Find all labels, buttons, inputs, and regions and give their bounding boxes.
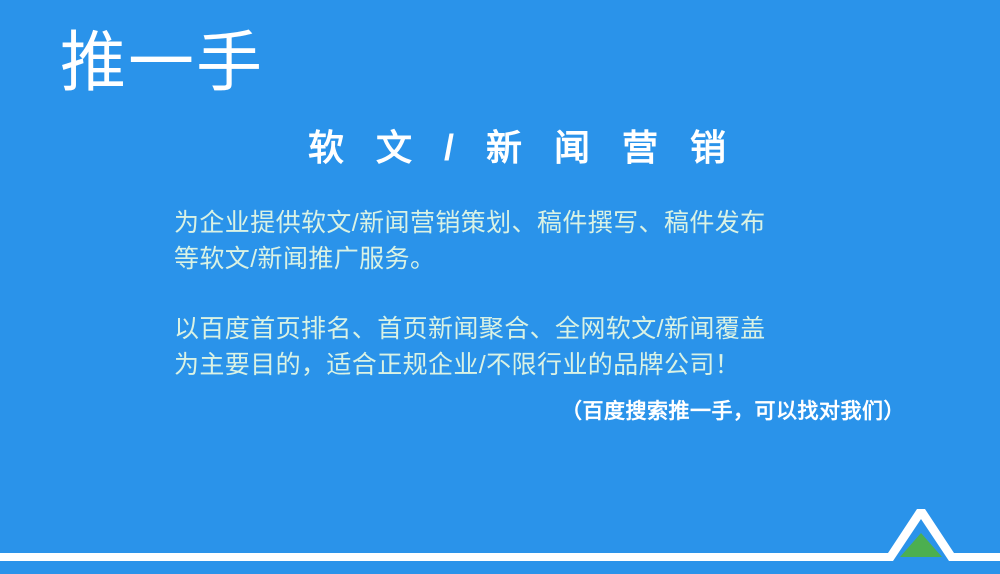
- banner-subtitle: 软 文 / 新 闻 营 销: [308, 124, 737, 173]
- paragraph-objectives: 以百度首页排名、首页新闻聚合、全网软文/新闻覆盖 为主要目的，适合正规企业/不限…: [174, 311, 874, 383]
- triangle-accent-icon: [900, 533, 942, 557]
- paragraph-services-line-1: 为企业提供软文/新闻营销策划、稿件撰写、稿件发布: [174, 205, 874, 241]
- search-hint-footnote: （百度搜索推一手，可以找对我们）: [561, 398, 905, 426]
- promo-banner: 推一手 软 文 / 新 闻 营 销 为企业提供软文/新闻营销策划、稿件撰写、稿件…: [0, 0, 1000, 574]
- brand-logo: 推一手: [60, 24, 264, 102]
- body-copy: 为企业提供软文/新闻营销策划、稿件撰写、稿件发布 等软文/新闻推广服务。 以百度…: [174, 205, 874, 383]
- paragraph-objectives-line-1: 以百度首页排名、首页新闻聚合、全网软文/新闻覆盖: [174, 311, 874, 347]
- paragraph-services: 为企业提供软文/新闻营销策划、稿件撰写、稿件发布 等软文/新闻推广服务。: [174, 205, 874, 277]
- paragraph-objectives-line-2: 为主要目的，适合正规企业/不限行业的品牌公司！: [174, 347, 874, 383]
- paragraph-services-line-2: 等软文/新闻推广服务。: [174, 241, 874, 277]
- baseline-rule: [0, 509, 1000, 561]
- bottom-decoration: [0, 500, 1000, 574]
- mountain-peak-icon: [0, 500, 1000, 574]
